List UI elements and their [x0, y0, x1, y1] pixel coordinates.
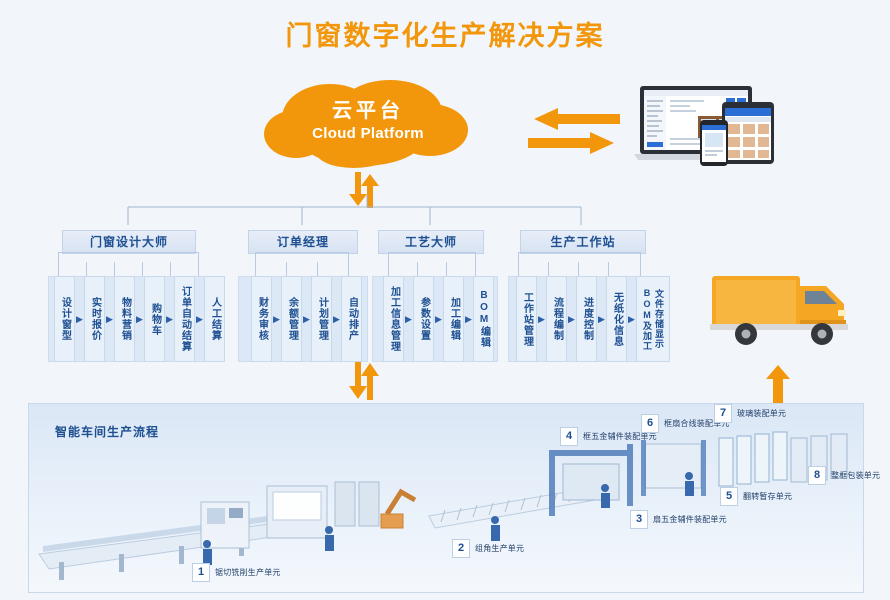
module-header-workstation[interactable]: 生产工作站 [520, 230, 646, 254]
truck-output-arrow [765, 365, 791, 407]
workshop-title: 智能车间生产流程 [55, 423, 159, 440]
module-body-order: 财务审核 ▶ 余额管理 ▶ 计划管理 ▶ 自动排产 [238, 276, 368, 362]
flow-arrow-icon: ▶ [75, 314, 84, 325]
chip-progress-control[interactable]: 进度控制 [576, 276, 597, 362]
chip-process-edit[interactable]: 加工编辑 [443, 276, 464, 362]
data-sync-arrows [528, 108, 620, 156]
module-body-process: 加工信息管理 ▶ 参数设置 ▶ 加工编辑 ▶ BOM编辑 [372, 276, 498, 362]
flow-arrow-icon: ▶ [105, 314, 114, 325]
page-title: 门窗数字化生产解决方案 [0, 14, 890, 53]
unit-label-8[interactable]: 8 整框包装单元 [808, 466, 880, 485]
unit-label-1[interactable]: 1 锯切铣削生产单元 [192, 563, 281, 582]
flow-arrow-icon: ▶ [302, 314, 311, 325]
flow-arrow-icon: ▶ [404, 314, 413, 325]
chip-shopping-cart[interactable]: 购物车 [144, 276, 165, 362]
flow-arrow-icon: ▶ [332, 314, 341, 325]
module-body-workstation: 工作站管理 ▶ 流程编制 ▶ 进度控制 ▶ 无纸化信息 ▶ BOM及加工 文件存… [508, 276, 662, 362]
chip-design-window-type[interactable]: 设计窗型 [54, 276, 75, 362]
flow-arrow-icon: ▶ [627, 314, 636, 325]
flow-arrow-icon: ▶ [434, 314, 443, 325]
chip-balance-management[interactable]: 余额管理 [281, 276, 302, 362]
chip-plan-management[interactable]: 计划管理 [311, 276, 332, 362]
chip-process-info-management[interactable]: 加工信息管理 [383, 276, 404, 362]
module-connectors [0, 195, 890, 235]
unit-label-2[interactable]: 2 组角生产单元 [452, 539, 524, 558]
chip-auto-scheduling[interactable]: 自动排产 [341, 276, 362, 362]
module-body-design: 设计窗型 ▶ 实时报价 ▶ 物料营销 ▶ 购物车 ▶ 订单自动结算 ▶ 人工结算 [48, 276, 210, 362]
flow-arrow-icon: ▶ [195, 314, 204, 325]
chip-bom-edit[interactable]: BOM编辑 [473, 276, 494, 362]
flow-arrow-icon: ▶ [464, 314, 473, 325]
cloud-label-cn: 云平台 [262, 98, 474, 124]
flow-arrow-icon: ▶ [135, 314, 144, 325]
chip-workstation-management[interactable]: 工作站管理 [516, 276, 537, 362]
chip-bom-file-storage[interactable]: BOM及加工 文件存储显示 [636, 276, 670, 362]
module-header-design[interactable]: 门窗设计大师 [62, 230, 196, 254]
chip-manual-settlement[interactable]: 人工结算 [204, 276, 225, 362]
flow-arrow-icon: ▶ [567, 314, 576, 325]
flow-arrow-icon: ▶ [165, 314, 174, 325]
flow-arrow-icon: ▶ [272, 314, 281, 325]
chip-finance-audit[interactable]: 财务审核 [251, 276, 272, 362]
chip-realtime-quote[interactable]: 实时报价 [84, 276, 105, 362]
workshop-sync-arrow [347, 362, 387, 400]
module-header-order[interactable]: 订单经理 [248, 230, 358, 254]
delivery-truck-illustration [706, 258, 858, 358]
device-mockups [630, 86, 785, 166]
cloud-platform-node: 云平台 Cloud Platform [262, 78, 474, 170]
unit-label-7[interactable]: 7 玻璃装配单元 [714, 404, 786, 423]
chip-material-marketing[interactable]: 物料营销 [114, 276, 135, 362]
cloud-label-en: Cloud Platform [262, 124, 474, 144]
unit-label-5[interactable]: 5 翻转暂存单元 [720, 487, 792, 506]
chip-process-compile[interactable]: 流程编制 [546, 276, 567, 362]
solution-diagram: 门窗数字化生产解决方案 云平台 Cloud Platform [0, 0, 890, 600]
flow-arrow-icon: ▶ [597, 314, 606, 325]
module-header-process[interactable]: 工艺大师 [378, 230, 484, 254]
unit-label-3[interactable]: 3 扇五金辅件装配单元 [630, 510, 727, 529]
flow-arrow-icon: ▶ [537, 314, 546, 325]
chip-auto-settlement[interactable]: 订单自动结算 [174, 276, 195, 362]
cloud-label-group: 云平台 Cloud Platform [262, 98, 474, 144]
chip-parameter-setting[interactable]: 参数设置 [413, 276, 434, 362]
chip-paperless-info[interactable]: 无纸化信息 [606, 276, 627, 362]
